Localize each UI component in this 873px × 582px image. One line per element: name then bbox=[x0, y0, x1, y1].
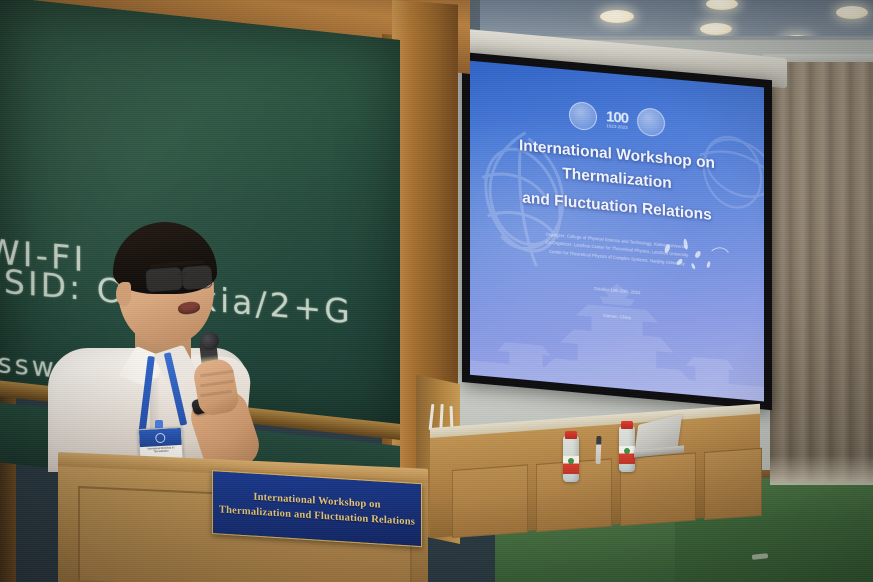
speaker-glasses-right-lens bbox=[181, 265, 213, 290]
water-bottle-left-leaf-icon bbox=[568, 458, 574, 464]
desk-panel-4 bbox=[704, 448, 762, 520]
ceiling-light-5 bbox=[836, 6, 868, 19]
centennial-100-logo-icon: 100 1923-2023 bbox=[606, 109, 628, 131]
desk-panel-1 bbox=[452, 464, 528, 538]
water-bottle-left-cap bbox=[565, 431, 577, 439]
ceiling-light-3 bbox=[700, 23, 732, 35]
podium-sign: International Workshop on Thermalization… bbox=[212, 470, 422, 547]
curtain-hem bbox=[770, 455, 873, 485]
projector-screen-frame: 100 1923-2023 International Workshop on … bbox=[462, 52, 772, 410]
institute-emblem-right-icon bbox=[637, 107, 665, 138]
badge-org-line: International Workshop on Thermalization bbox=[140, 447, 182, 456]
centennial-years: 1923-2023 bbox=[606, 124, 628, 131]
badge-emblem-icon bbox=[155, 432, 166, 443]
pen[interactable] bbox=[596, 436, 602, 464]
water-bottle-right-leaf-icon bbox=[624, 448, 630, 454]
university-emblem-left-icon bbox=[569, 101, 597, 132]
conference-photo: 100 1923-2023 International Workshop on … bbox=[0, 0, 873, 582]
window-curtain bbox=[770, 62, 873, 482]
water-bottle-right-cap bbox=[621, 421, 633, 429]
speaker-glasses-left-lens bbox=[145, 267, 183, 292]
speaker-ear bbox=[116, 282, 131, 306]
ceiling-light-1 bbox=[600, 10, 634, 23]
badge-header bbox=[139, 428, 182, 447]
projected-slide: 100 1923-2023 International Workshop on … bbox=[470, 61, 764, 402]
